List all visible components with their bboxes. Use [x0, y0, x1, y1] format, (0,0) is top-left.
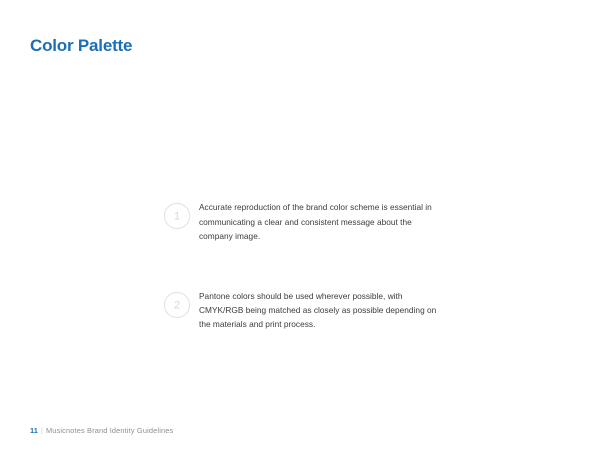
- number-badge-1-icon: 1: [163, 202, 191, 230]
- list-item: 1 Accurate reproduction of the brand col…: [163, 200, 463, 243]
- number-badge-1-label: 1: [174, 211, 180, 223]
- list-item: 2 Pantone colors should be used wherever…: [163, 289, 463, 332]
- document-page: Color Palette 1 Accurate reproduction of…: [0, 0, 600, 463]
- footer-separator: |: [41, 426, 43, 436]
- numbered-note-list: 1 Accurate reproduction of the brand col…: [163, 192, 463, 340]
- page-title: Color Palette: [30, 36, 132, 56]
- number-badge-2-label: 2: [174, 300, 180, 312]
- page-footer: 11 | Musicnotes Brand Identity Guideline…: [30, 426, 173, 436]
- note-text-1: Accurate reproduction of the brand color…: [199, 200, 444, 243]
- note-text-2: Pantone colors should be used wherever p…: [199, 289, 444, 332]
- footer-label: Musicnotes Brand Identity Guidelines: [46, 426, 173, 436]
- footer-page-number: 11: [30, 426, 38, 436]
- number-badge-2-icon: 2: [163, 291, 191, 319]
